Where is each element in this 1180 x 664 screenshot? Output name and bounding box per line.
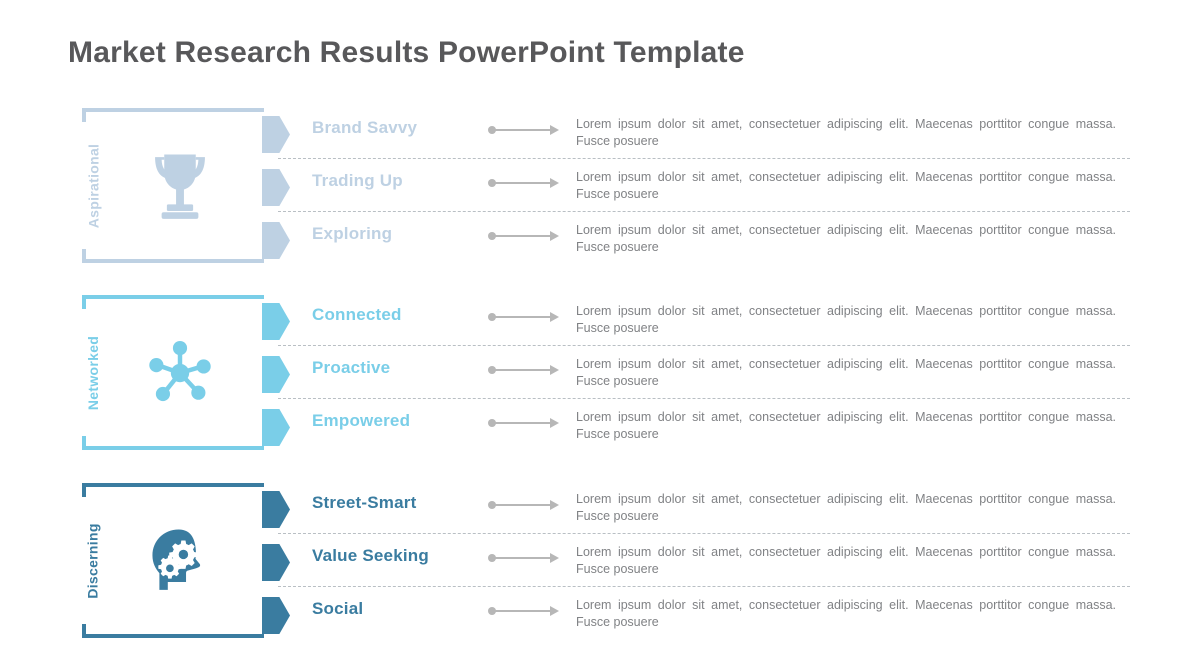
connector-line (495, 557, 551, 559)
row-description: Lorem ipsum dolor sit amet, consectetuer… (576, 356, 1116, 390)
row-description: Lorem ipsum dolor sit amet, consectetuer… (576, 303, 1116, 337)
chevron-icon (262, 597, 290, 634)
chevron-icon (262, 169, 290, 206)
group-networked: Networked (0, 295, 1180, 455)
row-label: Proactive (312, 358, 390, 378)
group-discerning: Discerning Street-Smart (0, 483, 1180, 643)
chevron-icon (262, 544, 290, 581)
group-aspirational: Aspirational Brand Savvy (0, 108, 1180, 268)
row-description: Lorem ipsum dolor sit amet, consectetuer… (576, 222, 1116, 256)
connector-line (495, 129, 551, 131)
row-label: Trading Up (312, 171, 403, 191)
row-description: Lorem ipsum dolor sit amet, consectetuer… (576, 597, 1116, 631)
connector-arrow-icon (488, 230, 564, 242)
chevron-icon (262, 356, 290, 393)
row-label: Connected (312, 305, 402, 325)
row-separator (278, 398, 1130, 399)
connector-arrowhead (550, 500, 559, 510)
connector-arrowhead (550, 125, 559, 135)
row-social[interactable]: Social Lorem ipsum dolor sit amet, conse… (0, 589, 1180, 641)
row-description: Lorem ipsum dolor sit amet, consectetuer… (576, 491, 1116, 525)
row-separator (278, 345, 1130, 346)
connector-arrowhead (550, 553, 559, 563)
connector-arrowhead (550, 231, 559, 241)
connector-arrow-icon (488, 364, 564, 376)
row-trading-up[interactable]: Trading Up Lorem ipsum dolor sit amet, c… (0, 161, 1180, 213)
chevron-icon (262, 303, 290, 340)
row-label: Brand Savvy (312, 118, 417, 138)
row-description: Lorem ipsum dolor sit amet, consectetuer… (576, 169, 1116, 203)
connector-line (495, 182, 551, 184)
row-label: Empowered (312, 411, 410, 431)
connector-arrowhead (550, 178, 559, 188)
connector-line (495, 369, 551, 371)
chevron-icon (262, 222, 290, 259)
row-separator (278, 586, 1130, 587)
row-label: Street-Smart (312, 493, 416, 513)
connector-arrow-icon (488, 499, 564, 511)
row-description: Lorem ipsum dolor sit amet, consectetuer… (576, 544, 1116, 578)
connector-line (495, 610, 551, 612)
connector-arrow-icon (488, 417, 564, 429)
row-label: Social (312, 599, 363, 619)
chevron-icon (262, 491, 290, 528)
slide-canvas: Market Research Results PowerPoint Templ… (0, 0, 1180, 664)
row-connected[interactable]: Connected Lorem ipsum dolor sit amet, co… (0, 295, 1180, 347)
connector-arrowhead (550, 606, 559, 616)
row-separator (278, 533, 1130, 534)
chevron-icon (262, 116, 290, 153)
connector-line (495, 316, 551, 318)
connector-arrowhead (550, 365, 559, 375)
row-separator (278, 158, 1130, 159)
connector-arrowhead (550, 312, 559, 322)
row-label: Exploring (312, 224, 392, 244)
row-description: Lorem ipsum dolor sit amet, consectetuer… (576, 116, 1116, 150)
connector-arrow-icon (488, 124, 564, 136)
row-separator (278, 211, 1130, 212)
row-value-seeking[interactable]: Value Seeking Lorem ipsum dolor sit amet… (0, 536, 1180, 588)
chevron-icon (262, 409, 290, 446)
row-empowered[interactable]: Empowered Lorem ipsum dolor sit amet, co… (0, 401, 1180, 453)
connector-line (495, 504, 551, 506)
row-street-smart[interactable]: Street-Smart Lorem ipsum dolor sit amet,… (0, 483, 1180, 535)
row-exploring[interactable]: Exploring Lorem ipsum dolor sit amet, co… (0, 214, 1180, 266)
row-proactive[interactable]: Proactive Lorem ipsum dolor sit amet, co… (0, 348, 1180, 400)
connector-arrow-icon (488, 311, 564, 323)
connector-arrow-icon (488, 605, 564, 617)
row-label: Value Seeking (312, 546, 429, 566)
connector-line (495, 235, 551, 237)
page-title: Market Research Results PowerPoint Templ… (68, 36, 745, 70)
connector-line (495, 422, 551, 424)
row-description: Lorem ipsum dolor sit amet, consectetuer… (576, 409, 1116, 443)
row-brand-savvy[interactable]: Brand Savvy Lorem ipsum dolor sit amet, … (0, 108, 1180, 160)
connector-arrow-icon (488, 552, 564, 564)
connector-arrowhead (550, 418, 559, 428)
connector-arrow-icon (488, 177, 564, 189)
